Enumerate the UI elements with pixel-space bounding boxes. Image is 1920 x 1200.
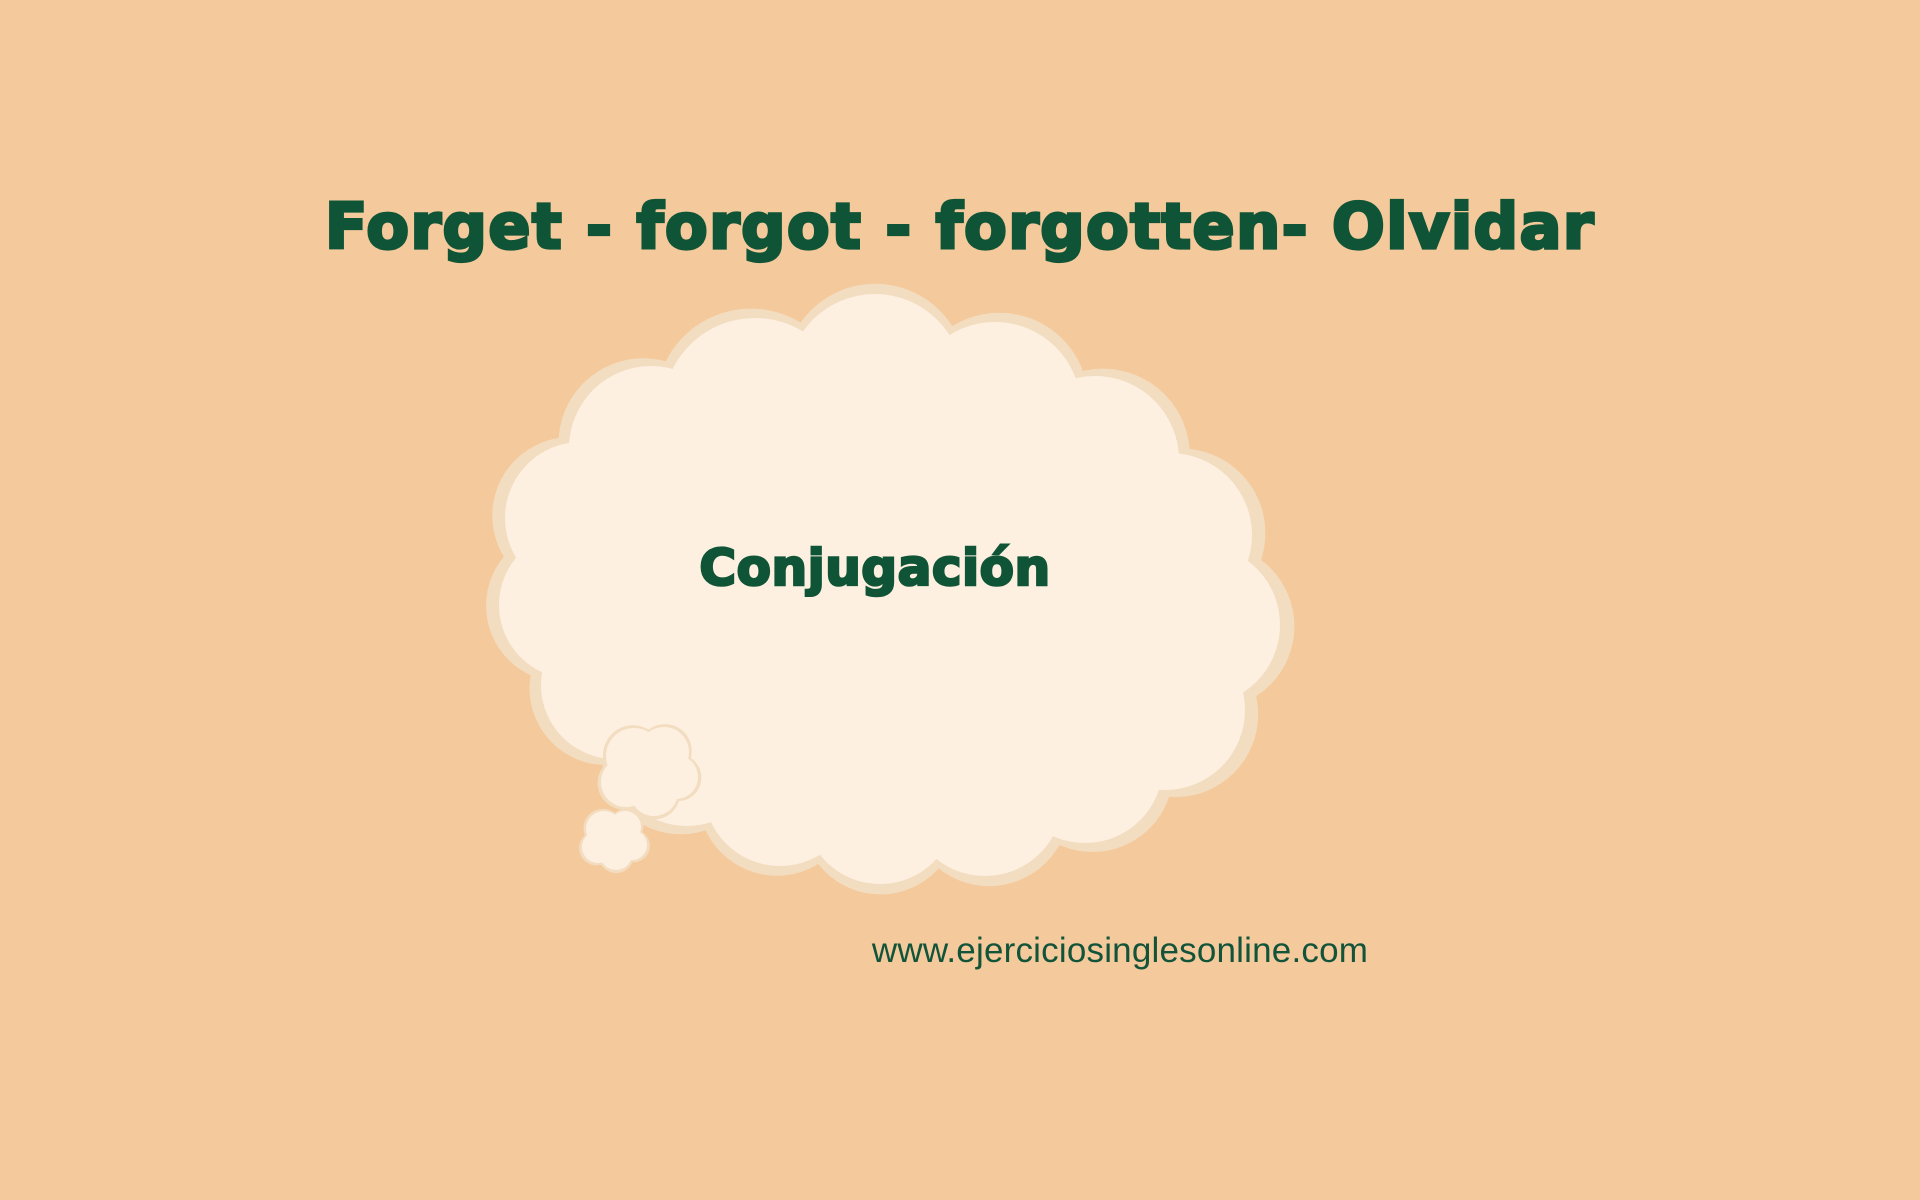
website-url: www.ejerciciosinglesonline.com [872, 931, 1368, 971]
bubble-label: Conjugación [455, 543, 1295, 593]
image-canvas: Forget - forgot - forgotten- Olvidar [0, 0, 1920, 1200]
page-title: Forget - forgot - forgotten- Olvidar [0, 196, 1920, 258]
thought-puff-small [578, 805, 650, 871]
thought-puff-medium [596, 722, 704, 818]
thought-bubble-shape [455, 320, 1295, 880]
thought-bubble [455, 320, 1295, 880]
